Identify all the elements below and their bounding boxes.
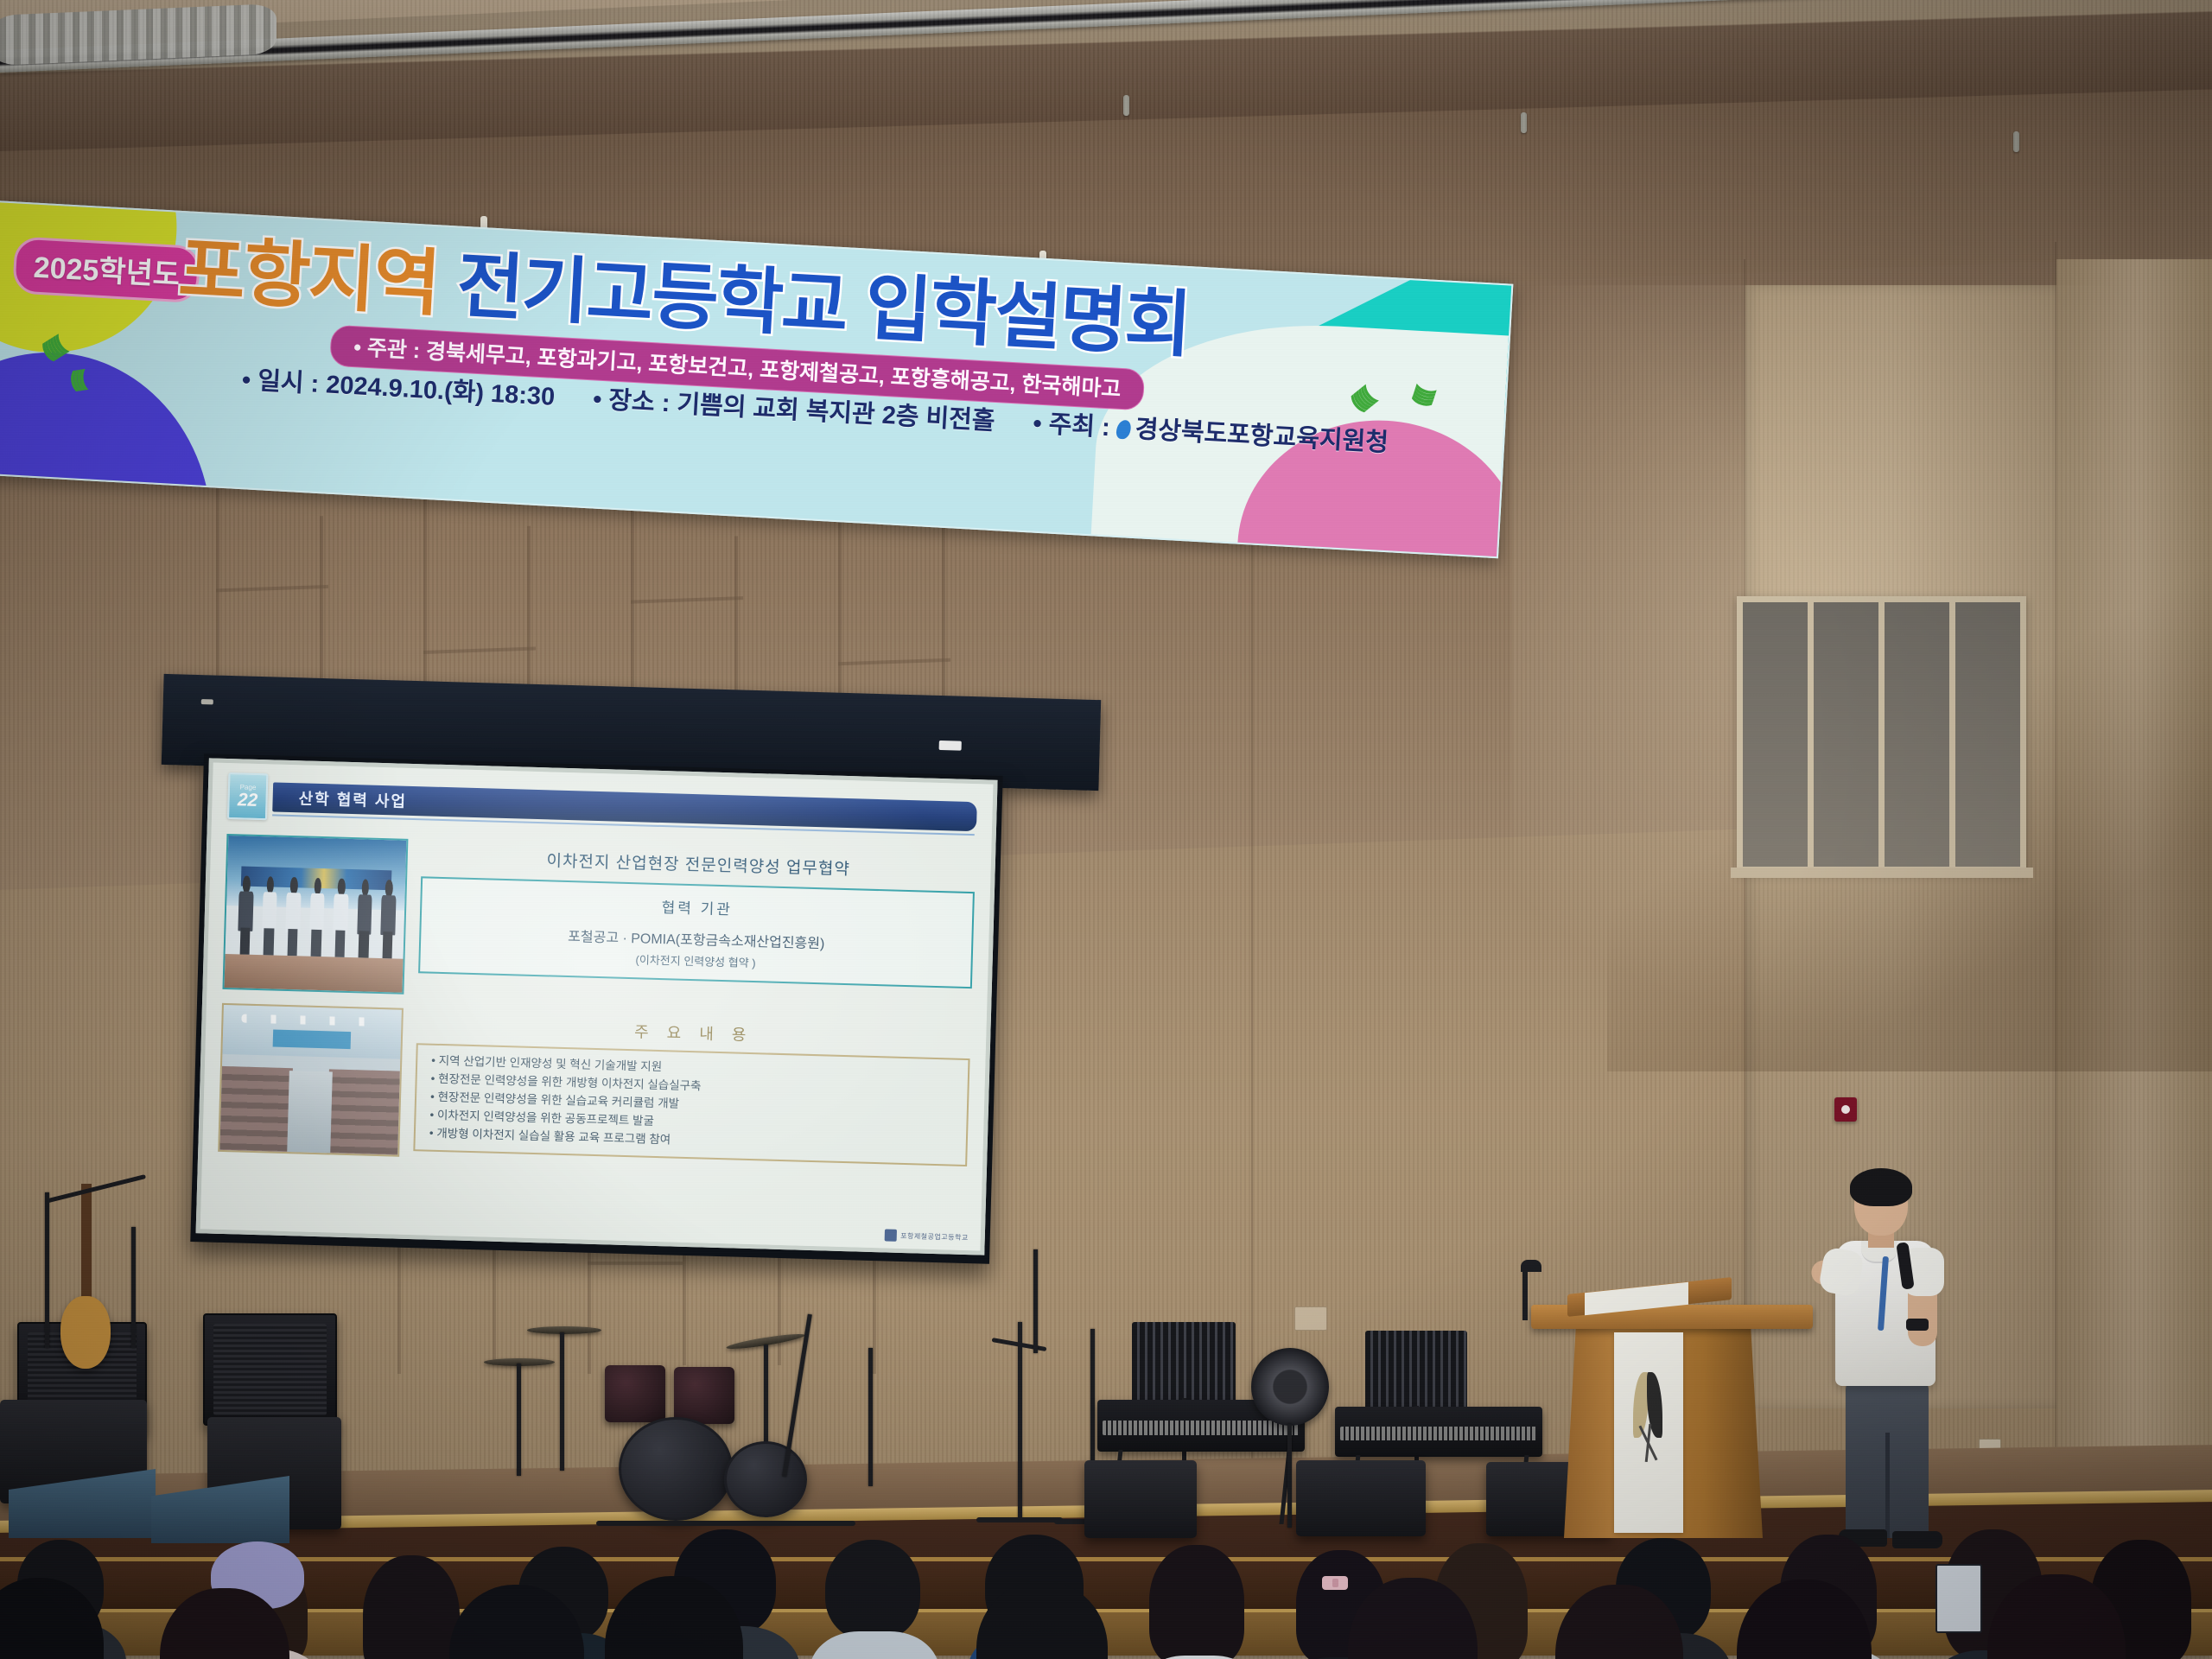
presenter-leg-split: [1885, 1433, 1890, 1538]
podium-banner-cloth: [1614, 1332, 1683, 1533]
wall-seam: [2055, 242, 2056, 1469]
projection-screen: Page 22 산학 협력 사업: [190, 753, 1002, 1264]
slide-header: Page 22 산학 협력 사업: [227, 777, 977, 836]
slide-body: 이차전지 산업현장 전문인력양성 업무협약 협력 기관 포철공고 · POMIA…: [218, 834, 976, 1173]
tom-drum: [605, 1365, 665, 1422]
fish-emblem-icon: [1630, 1372, 1668, 1462]
page-label: Page: [240, 784, 257, 791]
presentation-hall-photo: (((((( (((( (((((( ((((( 2025학년도 포항지역 전기…: [0, 0, 2212, 1659]
window-sill: [1731, 868, 2033, 878]
partner-box: 협력 기관 포철공고 · POMIA(포항금속소재산업진흥원) (이차전지 인력…: [418, 876, 975, 988]
drum-mic-stand: [868, 1348, 873, 1486]
page-number: 22: [238, 791, 258, 810]
banner-date-value: 2024.9.10.(화) 18:30: [325, 371, 556, 411]
wristwatch-icon: [1906, 1319, 1929, 1331]
slide-footer-logo: 포항제철공업고등학교: [885, 1229, 969, 1243]
mou-column: 이차전지 산업현장 전문인력양성 업무협약 협력 기관 포철공고 · POMIA…: [417, 839, 976, 1010]
mic-stand-base: [976, 1517, 1063, 1522]
floor-fan: [1251, 1348, 1329, 1426]
partner-box-heading: 협력 기관: [429, 889, 965, 925]
ceremony-photo: [222, 834, 408, 995]
microphone-stand: [1018, 1322, 1022, 1521]
microphone-stand: [131, 1227, 136, 1348]
amp-stack-top: [203, 1313, 337, 1426]
presentation-slide: Page 22 산학 협력 사업: [200, 762, 994, 1250]
presenter-shoe: [1892, 1531, 1942, 1548]
fire-alarm-icon: [1834, 1097, 1857, 1122]
cymbal-stand: [517, 1363, 521, 1476]
rail-hook: [2013, 131, 2019, 152]
window-pane: [1743, 602, 1814, 867]
content-bullet-list: 지역 산업기반 인재양성 및 혁신 기술개발 지원 현장전문 인력양성을 위한 …: [413, 1043, 969, 1166]
hair-bow-clip: [1322, 1576, 1348, 1590]
slide-row-mou: 이차전지 산업현장 전문인력양성 업무협약 협력 기관 포철공고 · POMIA…: [222, 834, 976, 1010]
banner-year-badge: 2025학년도: [12, 236, 201, 303]
tom-drum: [674, 1367, 734, 1424]
window-pane: [1814, 602, 1885, 867]
window-pane: [1885, 602, 1955, 867]
auditorium-photo: [218, 1003, 404, 1157]
microphone-stand: [45, 1192, 49, 1348]
housing-indicator: [939, 741, 962, 751]
slide-page-chip: Page 22: [227, 772, 268, 820]
smartphone-icon: [1935, 1564, 1982, 1633]
housing-indicator: [201, 699, 213, 704]
fan-stand: [1287, 1424, 1292, 1528]
banner-date-label: • 일시 :: [241, 366, 320, 398]
floor-tom: [724, 1441, 807, 1517]
banner-org-label: • 주최 :: [1033, 410, 1111, 442]
slide-logo-text: 포항제철공업고등학교: [900, 1230, 969, 1242]
wall-seam: [1251, 518, 1253, 1469]
drum-rug: [596, 1521, 855, 1526]
wall-panel-far-right: [2056, 259, 2212, 1469]
hall-window: [1737, 596, 2026, 873]
ceremony-people: [236, 875, 398, 959]
window-pane: [1955, 602, 2020, 867]
podium-microphone-head: [1521, 1260, 1541, 1272]
cymbal-stand: [560, 1332, 564, 1471]
slide-row-content: 주 요 내 용 지역 산업기반 인재양성 및 혁신 기술개발 지원 현장전문 인…: [218, 1003, 970, 1173]
banner-title-region: 포항지역: [176, 229, 441, 324]
school-logo-icon: [885, 1229, 897, 1241]
podium-microphone: [1522, 1265, 1528, 1320]
rail-hook: [1521, 112, 1527, 133]
banner-place-label: • 장소 :: [592, 385, 671, 417]
stage-speaker: [1296, 1460, 1426, 1536]
wall-panel-plate: [1294, 1306, 1327, 1331]
presenter-hair: [1850, 1168, 1912, 1206]
cymbal: [527, 1326, 601, 1334]
bass-drum: [619, 1417, 733, 1521]
presenter: [1813, 1173, 1968, 1545]
keyboard: [1335, 1407, 1542, 1457]
rail-hook: [1123, 95, 1129, 116]
podium: [1547, 1305, 1797, 1538]
stage-speaker: [1084, 1460, 1197, 1538]
microphone-stand: [1033, 1249, 1038, 1353]
content-column: 주 요 내 용 지역 산업기반 인재양성 및 혁신 기술개발 지원 현장전문 인…: [413, 1008, 971, 1173]
organization-logo-icon: [1116, 420, 1133, 440]
